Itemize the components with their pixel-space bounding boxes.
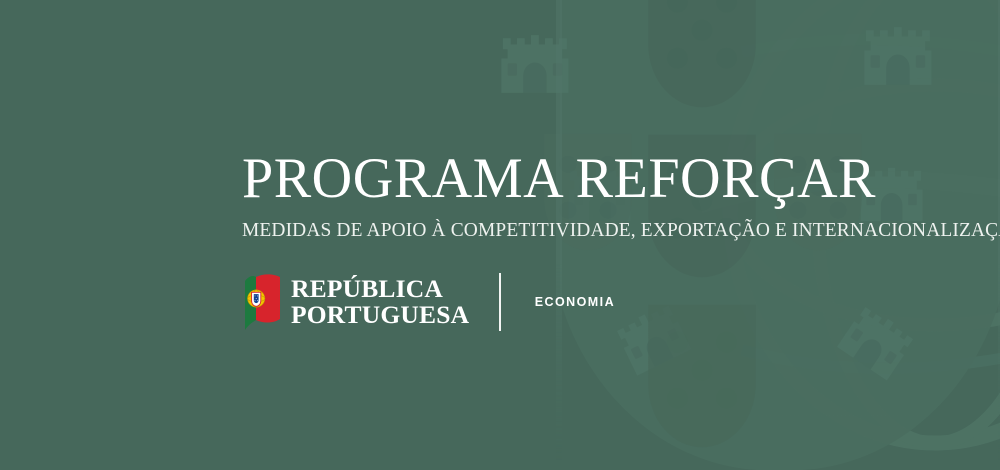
republica-portuguesa-wordmark: REPÚBLICA PORTUGUESA bbox=[291, 276, 469, 328]
ministry-label: ECONOMIA bbox=[535, 295, 615, 309]
page-title: PROGRAMA REFORÇAR bbox=[242, 150, 872, 207]
republica-line: REPÚBLICA bbox=[291, 276, 469, 302]
banner-content: PROGRAMA REFORÇAR MEDIDAS DE APOIO À COM… bbox=[242, 150, 882, 333]
banner-programa-reforcar: PROGRAMA REFORÇAR MEDIDAS DE APOIO À COM… bbox=[0, 0, 1000, 470]
logo-divider bbox=[499, 273, 501, 331]
portuguese-flag-icon bbox=[242, 272, 282, 332]
institutional-logo: REPÚBLICA PORTUGUESA ECONOMIA bbox=[242, 271, 882, 333]
portuguesa-line: PORTUGUESA bbox=[291, 302, 469, 328]
page-subtitle: MEDIDAS DE APOIO À COMPETITIVIDADE, EXPO… bbox=[242, 221, 879, 241]
